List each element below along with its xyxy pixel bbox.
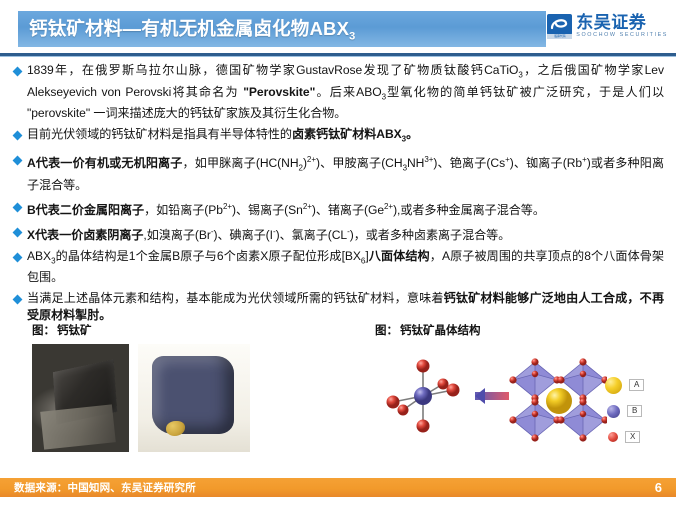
x-atom bbox=[447, 384, 460, 397]
logo-name-cn: 东吴证券 bbox=[576, 14, 668, 31]
legend-label: B bbox=[627, 405, 642, 417]
bullet-conclusion: 当满足上述晶体元素和结构，基本能成为光伏领域所需的钙钛矿材料，意味着钙钛矿材料能… bbox=[0, 290, 676, 325]
bullet-diamond-icon bbox=[14, 223, 27, 236]
bullet-conclusion-text: 当满足上述晶体元素和结构，基本能成为光伏领域所需的钙钛矿材料，意味着钙钛矿材料能… bbox=[27, 290, 664, 325]
legend-atom-a: A bbox=[605, 372, 663, 398]
footer-source-text: 数据来源：中国知网、东吴证券研究所 bbox=[0, 480, 196, 495]
page-title: 钙钛矿材料—有机无机金属卤化物ABX3 bbox=[18, 15, 356, 43]
bullet-structure: ABX3的晶体结构是1个金属B原子与6个卤素X原子配位形成[BX6]八面体结构，… bbox=[0, 248, 676, 287]
bullet-a-site-text: A代表一价有机或无机阳离子，如甲脒离子(HC(NH2)2+)、甲胺离子(CH3N… bbox=[27, 151, 664, 194]
figure-right-caption: 图：钙钛矿晶体结构 bbox=[375, 322, 665, 338]
perovskite-mineral-photo-2 bbox=[138, 344, 250, 452]
a-atom-center bbox=[546, 388, 572, 414]
bullet-definition-text: 目前光伏领域的钙钛矿材料是指具有半导体特性的卤素钙钛矿材料ABX3。 bbox=[27, 126, 664, 148]
figure-left-title: 钙钛矿 bbox=[57, 325, 92, 337]
bullet-x-site-text: X代表一价卤素阴离子,如溴离子(Br-)、碘离子(I-)、氯离子(CL-)，或者… bbox=[27, 223, 664, 244]
figure-left-label: 图： bbox=[32, 325, 55, 337]
footer-bar: 数据来源：中国知网、东吴证券研究所 6 bbox=[0, 478, 676, 497]
crystal-legend: ABX bbox=[605, 372, 663, 450]
bullet-diamond-icon bbox=[14, 126, 27, 139]
perovskite-mineral-photo-1 bbox=[32, 344, 129, 452]
bullet-diamond-icon bbox=[14, 151, 27, 164]
footer-bottom-margin bbox=[0, 497, 676, 505]
x-atom bbox=[387, 396, 400, 409]
crystal-structure-svg bbox=[375, 344, 607, 456]
logo-name-en: SOOCHOW SECURITIES bbox=[576, 33, 668, 38]
atom-sphere-icon bbox=[607, 405, 620, 418]
bullet-history-text: 1839年，在俄罗斯乌拉尔山脉，德国矿物学家GustavRose发现了矿物质钛酸… bbox=[27, 62, 664, 123]
x-atom bbox=[398, 405, 409, 416]
page-number: 6 bbox=[655, 480, 676, 495]
bullet-a-site: A代表一价有机或无机阳离子，如甲脒离子(HC(NH2)2+)、甲胺离子(CH3N… bbox=[0, 151, 676, 194]
bullet-list: 1839年，在俄罗斯乌拉尔山脉，德国矿物学家GustavRose发现了矿物质钛酸… bbox=[0, 62, 676, 328]
figure-right-title: 钙钛矿晶体结构 bbox=[400, 325, 481, 337]
bullet-diamond-icon bbox=[14, 198, 27, 211]
bullet-diamond-icon bbox=[14, 290, 27, 303]
x-atom bbox=[417, 360, 430, 373]
logo-swoosh-icon bbox=[550, 17, 569, 32]
x-atom bbox=[417, 420, 430, 433]
bullet-diamond-icon bbox=[14, 62, 27, 75]
slide-header: 钙钛矿材料—有机无机金属卤化物ABX3 股票代码 东吴证券 SOOCHOW SE… bbox=[0, 0, 676, 58]
crystal-structure-diagram: ABX bbox=[375, 344, 665, 456]
figure-left: 图：钙钛矿 bbox=[32, 322, 350, 452]
figure-right-label: 图： bbox=[375, 325, 398, 337]
figure-left-caption: 图：钙钛矿 bbox=[32, 322, 350, 338]
page-title-bar: 钙钛矿材料—有机无机金属卤化物ABX3 bbox=[18, 11, 546, 47]
perovskite-photo-row bbox=[32, 344, 350, 452]
logo-mark-icon: 股票代码 bbox=[547, 14, 572, 39]
bullet-b-site: B代表二价金属阳离子，如铅离子(Pb2+)、锡离子(Sn2+)、锗离子(Ge2+… bbox=[0, 198, 676, 219]
logo-wordmark: 东吴证券 SOOCHOW SECURITIES bbox=[576, 14, 668, 38]
bullet-definition: 目前光伏领域的钙钛矿材料是指具有半导体特性的卤素钙钛矿材料ABX3。 bbox=[0, 126, 676, 148]
logo-code-badge: 股票代码 bbox=[547, 34, 572, 39]
bullet-x-site: X代表一价卤素阴离子,如溴离子(Br-)、碘离子(I-)、氯离子(CL-)，或者… bbox=[0, 223, 676, 244]
bullet-history: 1839年，在俄罗斯乌拉尔山脉，德国矿物学家GustavRose发现了矿物质钛酸… bbox=[0, 62, 676, 123]
figure-right: 图：钙钛矿晶体结构 bbox=[375, 322, 665, 456]
company-logo: 股票代码 东吴证券 SOOCHOW SECURITIES bbox=[547, 14, 668, 39]
page-title-main: 钙钛矿材料—有机无机金属卤化物ABX bbox=[29, 18, 349, 39]
figure-area: 图：钙钛矿 图：钙钛矿晶体结构 bbox=[0, 322, 676, 477]
b-atom bbox=[414, 387, 432, 405]
header-divider-thin bbox=[0, 56, 676, 57]
page-title-subscript: 3 bbox=[349, 31, 355, 43]
x-atom bbox=[438, 379, 449, 390]
transform-arrow-icon bbox=[475, 388, 509, 404]
perovskite-lattice bbox=[509, 358, 607, 441]
legend-atom-x: X bbox=[605, 424, 663, 450]
bullet-diamond-icon bbox=[14, 248, 27, 261]
bullet-b-site-text: B代表二价金属阳离子，如铅离子(Pb2+)、锡离子(Sn2+)、锗离子(Ge2+… bbox=[27, 198, 664, 219]
legend-label: A bbox=[629, 379, 644, 391]
legend-label: X bbox=[625, 431, 640, 443]
bullet-structure-text: ABX3的晶体结构是1个金属B原子与6个卤素X原子配位形成[BX6]八面体结构，… bbox=[27, 248, 664, 287]
legend-atom-b: B bbox=[605, 398, 663, 424]
atom-sphere-icon bbox=[605, 377, 622, 394]
atom-sphere-icon bbox=[608, 432, 618, 442]
